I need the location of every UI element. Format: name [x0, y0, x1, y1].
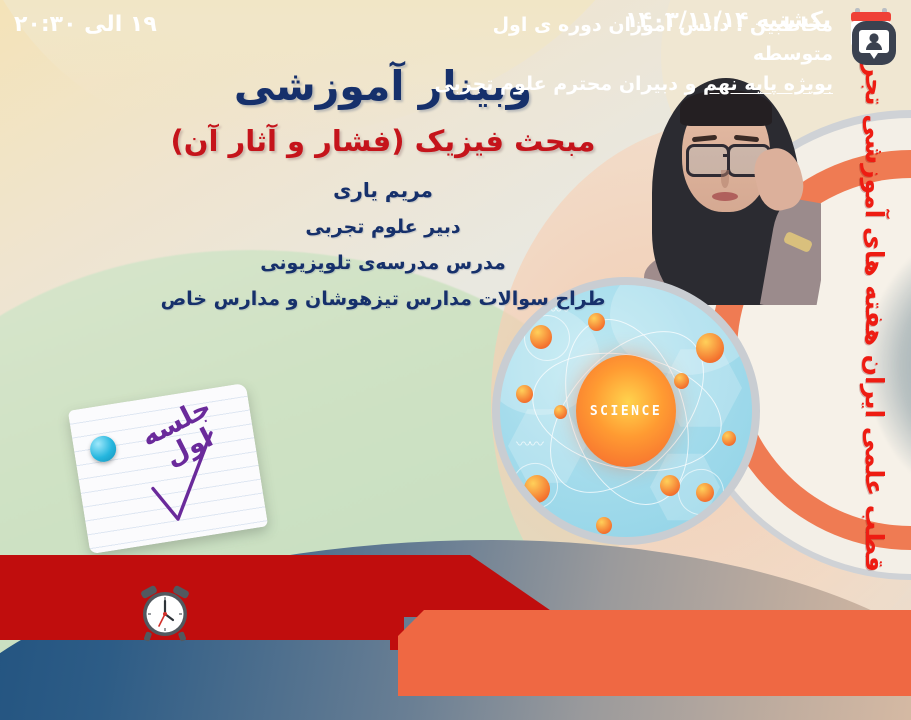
electron-dot [530, 325, 552, 349]
electron-dot [554, 405, 567, 419]
electron-dot [516, 385, 533, 403]
electron-dot [722, 431, 736, 446]
vertical-banner: قطب علمی ایران هفته های آموزشی تجربه [845, 30, 907, 550]
science-badge-disc: 〰〰 〰〰 〰〰 SCIENCE [500, 285, 752, 537]
electron-dot [596, 517, 612, 534]
person-badge-icon [851, 20, 897, 66]
audience-box [398, 610, 911, 696]
audience-text: مخاطبین : دانش آموزان دوره ی اول متوسطه … [433, 11, 833, 99]
atom-nucleus: SCIENCE [576, 355, 676, 467]
checkmark-icon [135, 425, 234, 529]
electron-dot [696, 333, 724, 363]
electron-dot [524, 475, 550, 503]
speaker-role-2: مدرس مدرسه‌ی تلویزیونی [0, 252, 766, 274]
science-label: SCIENCE [590, 404, 662, 419]
webinar-poster: 〰〰 〰〰 〰〰 SCIENCE وبینار آموز [0, 0, 911, 720]
time-banner [0, 584, 400, 640]
electron-dot [660, 475, 680, 496]
time-text: ۱۹ الی ۲۰:۳۰ [14, 12, 157, 37]
science-squiggle-icon: 〰〰 [516, 433, 542, 454]
audience-grade-highlight: بویژه پایه نهم [703, 73, 833, 95]
science-squiggle-icon: 〰〰 [686, 513, 712, 534]
audience-line-1: مخاطبین : دانش آموزان دوره ی اول متوسطه [433, 11, 833, 70]
electron-dot [588, 313, 605, 331]
notepad-graphic: جلسه اول [68, 383, 268, 554]
science-badge: 〰〰 〰〰 〰〰 SCIENCE [492, 277, 760, 545]
speaker-name: مریم یاری [0, 178, 766, 202]
speaker-role-1: دبیر علوم تجربی [0, 216, 766, 238]
audience-line-2-rest: و دبیران محترم علوم تجربی [434, 73, 703, 95]
subject-title: مبحث فیزیک (فشار و آثار آن) [0, 124, 766, 158]
electron-dot [674, 373, 689, 389]
vertical-banner-label: قطب علمی ایران هفته های آموزشی تجربه [860, 38, 889, 572]
alarm-clock-icon [135, 582, 195, 644]
audience-line-2: بویژه پایه نهم و دبیران محترم علوم تجربی [433, 70, 833, 99]
speaker-role-3: طراح سوالات مدارس تیزهوشان و مدارس خاص [0, 288, 766, 310]
electron-dot [696, 483, 714, 502]
